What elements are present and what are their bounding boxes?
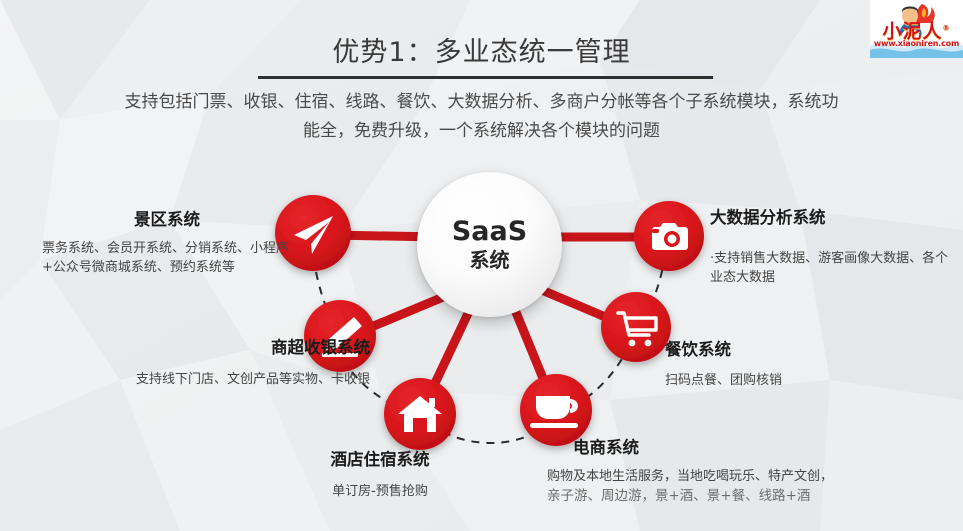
- heading-scenic-system: 景区系统: [42, 210, 292, 230]
- label-food-system: 餐饮系统 扫码点餐、团购核销: [665, 340, 905, 390]
- desc-ecommerce-system-line2: 亲子游、周边游，景+酒、景+餐、线路+酒: [547, 486, 962, 507]
- node-hotel-system[interactable]: [384, 378, 456, 450]
- node-bigdata-system[interactable]: [634, 201, 704, 271]
- node-ecommerce-system[interactable]: [520, 374, 592, 446]
- label-scenic-system: 景区系统 票务系统、会员开系统、分销系统、小程序+公众号微商城系统、预约系统等: [42, 210, 292, 277]
- desc-ecommerce-system-line1: 购物及本地生活服务，当地吃喝玩乐、特产文创，: [547, 467, 962, 486]
- label-retail-system: 商超收银系统 支持线下门店、文创产品等实物、卡收银: [120, 338, 370, 389]
- label-bigdata-system: 大数据分析系统 ·支持销售大数据、游客画像大数据、各个业态大数据: [710, 208, 956, 287]
- desc-food-system: 扫码点餐、团购核销: [665, 371, 905, 390]
- desc-hotel-system: 单订房-预售抢购: [270, 482, 490, 501]
- heading-ecommerce-system: 电商系统: [573, 438, 962, 458]
- desc-scenic-system: 票务系统、会员开系统、分销系统、小程序+公众号微商城系统、预约系统等: [42, 239, 292, 277]
- label-hotel-system: 酒店住宿系统 单订房-预售抢购: [270, 450, 490, 501]
- center-node-saas[interactable]: SaaS 系统: [417, 172, 562, 317]
- label-ecommerce-system: 电商系统 购物及本地生活服务，当地吃喝玩乐、特产文创， 亲子游、周边游，景+酒、…: [547, 438, 962, 507]
- heading-food-system: 餐饮系统: [665, 340, 905, 360]
- camera-icon: [652, 223, 688, 250]
- node-food-system[interactable]: [601, 292, 671, 362]
- desc-retail-system: 支持线下门店、文创产品等实物、卡收银: [120, 370, 370, 389]
- heading-retail-system: 商超收银系统: [120, 338, 370, 358]
- center-label-line1: SaaS: [452, 217, 527, 247]
- coffee-cup-icon: [530, 396, 578, 428]
- heading-bigdata-system: 大数据分析系统: [710, 208, 956, 228]
- heading-hotel-system: 酒店住宿系统: [270, 450, 490, 470]
- center-label-line2: 系统: [470, 247, 510, 273]
- slide-canvas: 小泥人® www.xiaoniren.com 优势1：多业态统一管理 支持包括门…: [0, 0, 963, 531]
- desc-bigdata-system: ·支持销售大数据、游客画像大数据、各个业态大数据: [710, 249, 956, 287]
